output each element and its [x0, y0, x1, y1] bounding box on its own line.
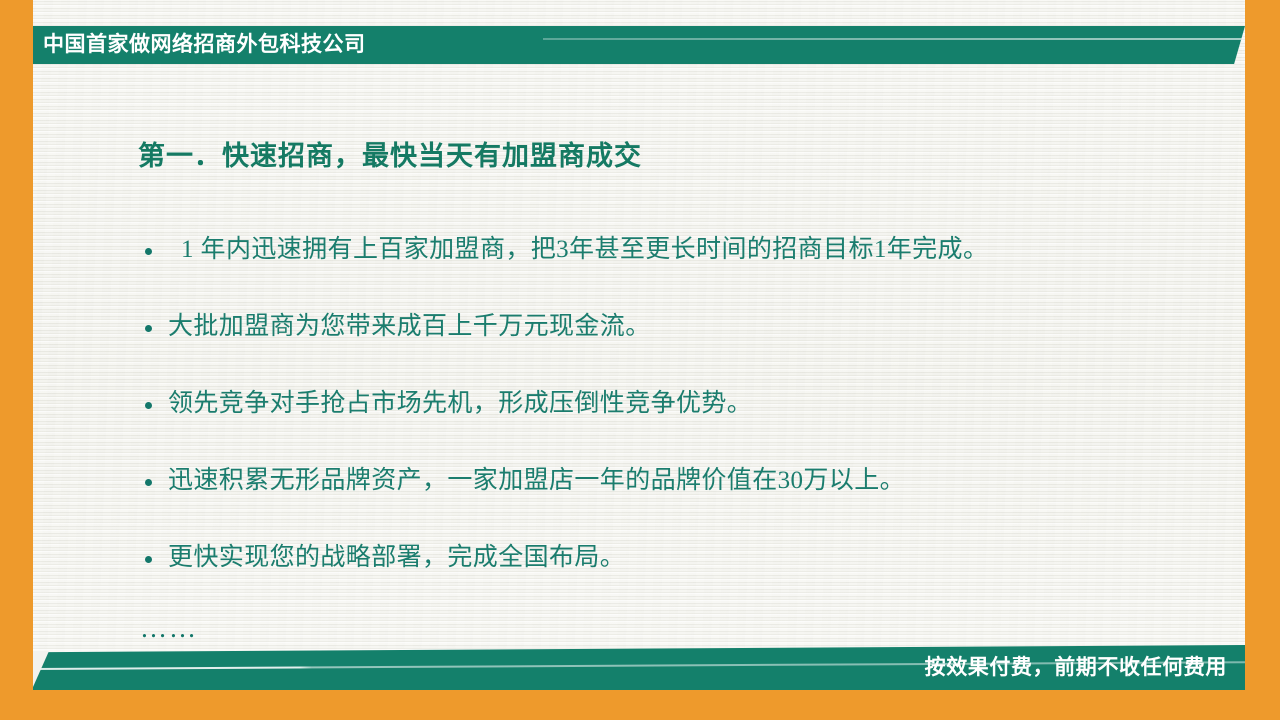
- page-title: 第一．快速招商，最快当天有加盟商成交: [138, 134, 642, 173]
- list-item: 1 年内迅速拥有上百家加盟商，把3年甚至更长时间的招商目标1年完成。: [145, 233, 1215, 310]
- list-item-label: 迅速积累无形品牌资产，一家加盟店一年的品牌价值在30万以上。: [168, 464, 1215, 498]
- header-hairline-divider: [543, 38, 1245, 40]
- list-item-label: 1 年内迅速拥有上百家加盟商，把3年甚至更长时间的招商目标1年完成。: [168, 233, 1215, 267]
- header-title: 中国首家做网络招商外包科技公司: [43, 28, 366, 62]
- ellipsis-continuation: ……: [140, 615, 198, 642]
- bullet-dot-icon: [145, 248, 152, 255]
- slide-canvas: 中国首家做网络招商外包科技公司 第一．快速招商，最快当天有加盟商成交 1 年内迅…: [0, 0, 1280, 720]
- bullet-dot-icon: [145, 325, 152, 332]
- bullet-dot-icon: [145, 556, 152, 563]
- list-item-label: 大批加盟商为您带来成百上千万元现金流。: [168, 310, 1215, 344]
- bullet-dot-icon: [145, 402, 152, 409]
- list-item: 大批加盟商为您带来成百上千万元现金流。: [145, 310, 1215, 387]
- footer-tagline: 按效果付费，前期不收任何费用: [925, 650, 1227, 686]
- bullet-list: 1 年内迅速拥有上百家加盟商，把3年甚至更长时间的招商目标1年完成。 大批加盟商…: [145, 233, 1215, 618]
- bullet-dot-icon: [145, 479, 152, 486]
- list-item-label: 领先竞争对手抢占市场先机，形成压倒性竞争优势。: [168, 387, 1215, 421]
- list-item: 更快实现您的战略部署，完成全国布局。: [145, 541, 1215, 618]
- list-item: 迅速积累无形品牌资产，一家加盟店一年的品牌价值在30万以上。: [145, 464, 1215, 541]
- list-item-label: 更快实现您的战略部署，完成全国布局。: [168, 541, 1215, 575]
- list-item: 领先竞争对手抢占市场先机，形成压倒性竞争优势。: [145, 387, 1215, 464]
